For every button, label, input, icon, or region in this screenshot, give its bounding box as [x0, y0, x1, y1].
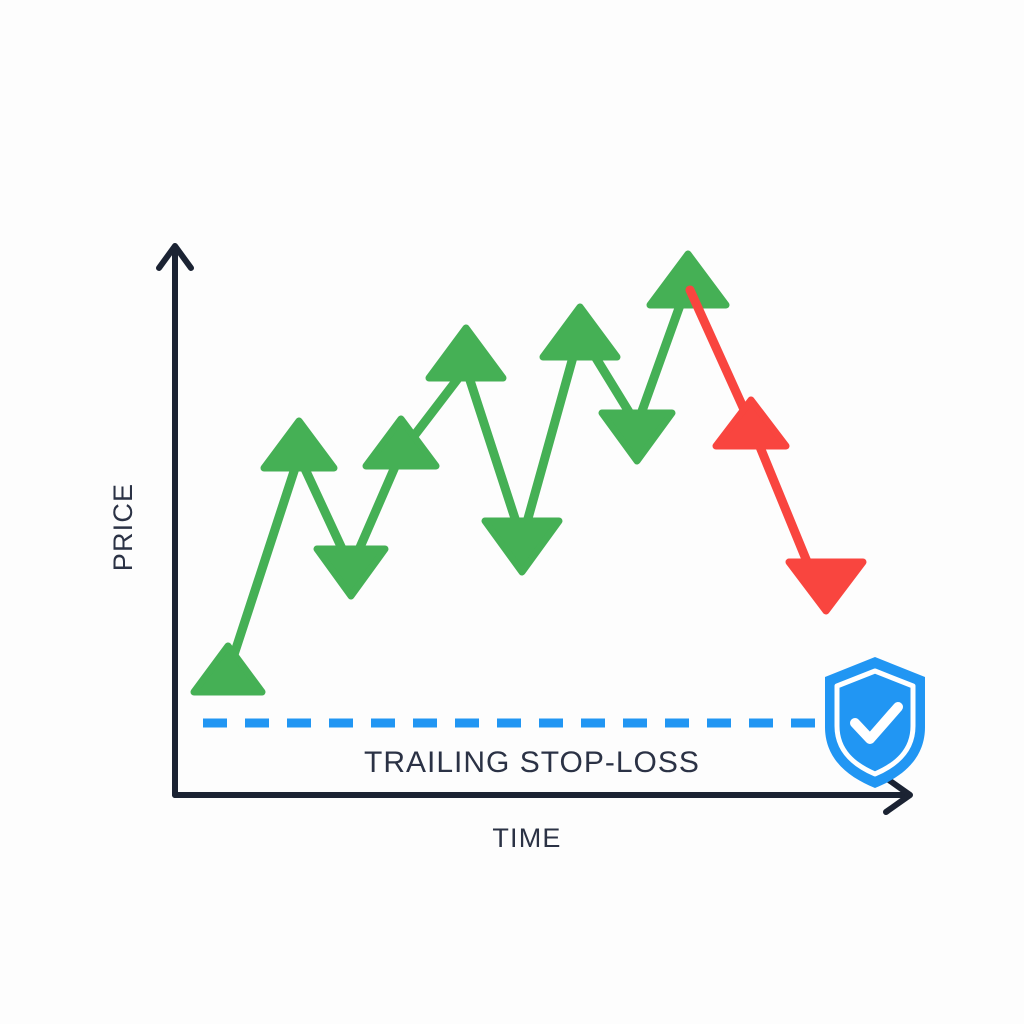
shield-check-icon	[825, 657, 925, 788]
uptrend-marker-up	[543, 307, 617, 357]
uptrend-marker-up	[194, 646, 262, 692]
downtrend-marker-up	[716, 400, 786, 446]
trailing-stop-loss-chart: PRICE TIME TRAILING STOP-LOSS	[0, 0, 1024, 1024]
uptrend-marker-up	[264, 421, 334, 468]
uptrend-marker-up	[429, 328, 503, 378]
shield-outer-shape	[825, 657, 925, 788]
uptrend-marker-down	[602, 413, 672, 461]
uptrend-marker-down	[485, 521, 559, 572]
downtrend-marker-down	[789, 562, 863, 611]
downtrend-series	[690, 290, 863, 611]
price-axis-label: PRICE	[108, 483, 138, 572]
uptrend-series	[194, 254, 726, 692]
trailing-stop-loss-label: TRAILING STOP-LOSS	[364, 746, 700, 779]
uptrend-peak-marker-up	[650, 254, 726, 305]
time-axis-label: TIME	[492, 823, 561, 853]
uptrend-marker-down	[317, 549, 385, 596]
chart-canvas: PRICE TIME TRAILING STOP-LOSS	[0, 0, 1024, 1024]
